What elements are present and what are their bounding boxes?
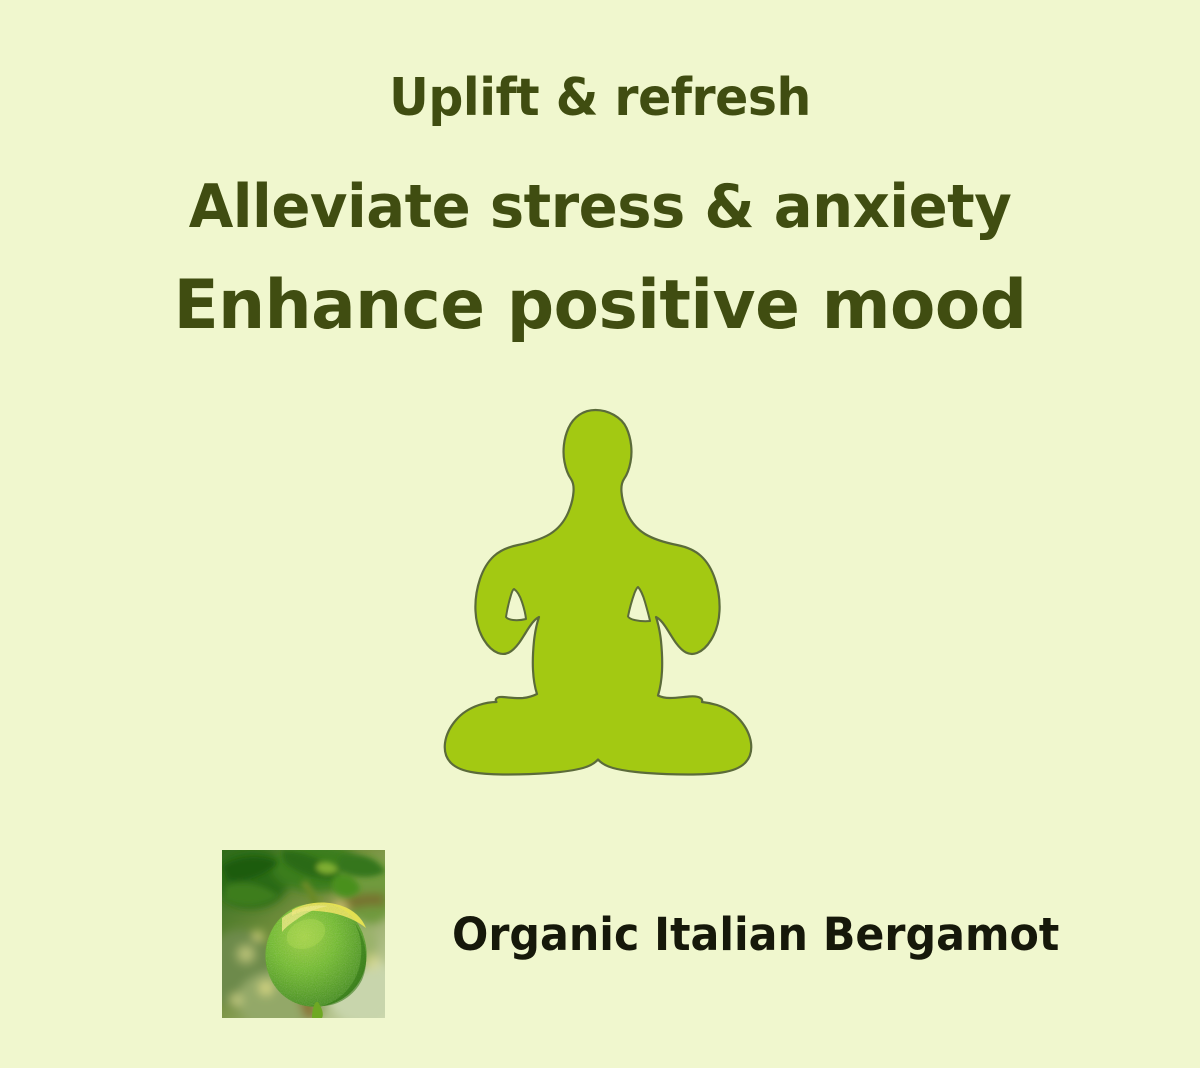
headline-line-3: Enhance positive mood (18, 272, 1182, 340)
meditating-figure (440, 400, 780, 800)
slide-canvas: Uplift & refresh Alleviate stress & anxi… (0, 0, 1200, 1068)
bergamot-fruit-image (222, 850, 385, 1018)
meditating-lotus-silhouette-icon (440, 400, 780, 800)
headline-line-2: Alleviate stress & anxiety (24, 177, 1176, 237)
product-caption: Organic Italian Bergamot (452, 912, 1059, 957)
bergamot-photo (222, 850, 385, 1018)
headline-line-1: Uplift & refresh (36, 72, 1164, 124)
